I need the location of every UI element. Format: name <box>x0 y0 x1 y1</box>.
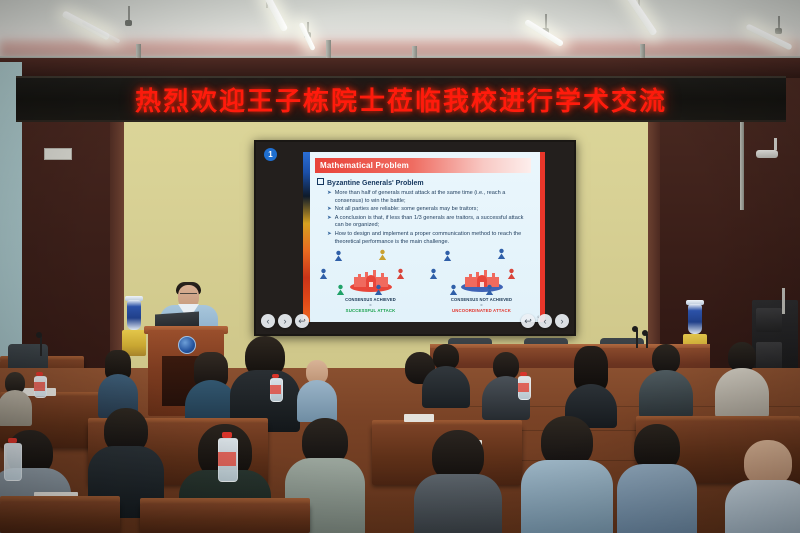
castle-icon <box>459 266 505 292</box>
audience-person <box>736 440 800 533</box>
bullet-text: A conclusion is that, if less than 1/3 g… <box>335 215 533 230</box>
lecture-hall-scene: 热烈欢迎王子栋院士莅临我校进行学术交流 1 Mathematical Probl… <box>0 0 800 533</box>
audience-person <box>96 408 156 508</box>
audience-person <box>628 424 686 533</box>
paper <box>404 414 434 422</box>
av-speaker <box>756 308 782 332</box>
led-banner-text: 热烈欢迎王子栋院士莅临我校进行学术交流 <box>135 81 667 118</box>
audience-person <box>0 372 30 422</box>
general-figure-icon <box>335 284 346 295</box>
microphone-stand <box>636 330 638 348</box>
bottle-label <box>270 385 281 394</box>
arrow-bullet-icon: ➤ <box>327 190 332 205</box>
projector-nav-left[interactable]: ‹ › ↩ <box>261 314 309 328</box>
water-bottle <box>4 443 22 481</box>
figure-caption: CONSENSUS ACHIEVED = SUCCESSFUL ATTACK <box>315 297 426 314</box>
presentation-slide: Mathematical Problem Byzantine Generals'… <box>303 152 545 322</box>
audience-person <box>424 430 492 533</box>
slide-figures: CONSENSUS ACHIEVED = SUCCESSFUL ATTACK <box>315 248 537 314</box>
ceiling <box>0 0 800 62</box>
bottle-label <box>218 452 236 466</box>
audience-person <box>236 336 294 428</box>
audience-person <box>100 350 136 410</box>
door-sign <box>44 148 72 160</box>
lamp-cap <box>125 20 132 26</box>
bottle-label <box>34 382 45 391</box>
slide-left-image-strip <box>303 152 310 322</box>
list-item: ➤A conclusion is that, if less than 1/3 … <box>327 215 533 230</box>
page-badge: 1 <box>264 148 277 161</box>
wall-conduit <box>740 120 744 210</box>
microphone-icon <box>632 326 638 332</box>
microphone-icon <box>36 332 42 338</box>
audience-person <box>188 352 234 422</box>
microphone-icon <box>642 330 648 336</box>
bottle-label <box>518 383 529 392</box>
figure-consensus-achieved: CONSENSUS ACHIEVED = SUCCESSFUL ATTACK <box>315 248 426 314</box>
bullet-text: How to design and implement a proper com… <box>335 231 533 246</box>
led-welcome-banner: 热烈欢迎王子栋院士莅临我校进行学术交流 <box>16 76 786 122</box>
general-figure-icon <box>395 268 406 279</box>
return-icon[interactable]: ↩ <box>521 314 535 328</box>
audience-person <box>300 360 334 416</box>
slide-title-text: Mathematical Problem <box>320 161 409 170</box>
chevron-left-icon[interactable]: ‹ <box>538 314 552 328</box>
general-figure-icon <box>428 268 439 279</box>
pipe-joint <box>326 40 331 60</box>
return-icon[interactable]: ↩ <box>295 314 309 328</box>
porcelain-vase <box>127 300 141 330</box>
audience-person <box>644 344 688 414</box>
general-figure-icon <box>448 284 459 295</box>
chevron-left-icon[interactable]: ‹ <box>261 314 275 328</box>
arrow-bullet-icon: ➤ <box>327 206 332 214</box>
microphone-stand <box>40 336 42 356</box>
mic-stand <box>782 288 785 314</box>
projection-screen[interactable]: 1 Mathematical Problem Byzantine General… <box>254 140 576 336</box>
desk <box>0 502 120 533</box>
arrow-bullet-icon: ➤ <box>327 231 332 246</box>
caption-line-2: UNCOORDINATED ATTACK <box>426 308 537 314</box>
figure-consensus-not-achieved: CONSENSUS NOT ACHIEVED = UNCOORDINATED A… <box>426 248 537 314</box>
audience-person <box>720 342 764 412</box>
audience-person <box>568 346 614 418</box>
porcelain-vase <box>688 304 702 334</box>
general-figure-icon <box>442 250 453 261</box>
general-figure-icon <box>377 249 388 260</box>
lamp-cap <box>775 28 782 34</box>
projector-nav-right[interactable]: ↩ ‹ › <box>521 314 569 328</box>
desk <box>140 504 310 533</box>
slide-bullet-list: ➤More than half of generals must attack … <box>327 190 533 247</box>
list-item: ➤How to design and implement a proper co… <box>327 231 533 246</box>
general-figure-icon <box>496 248 507 259</box>
figure-caption: CONSENSUS NOT ACHIEVED = UNCOORDINATED A… <box>426 297 537 314</box>
list-item: ➤More than half of generals must attack … <box>327 190 533 205</box>
general-figure-icon <box>333 250 344 261</box>
list-item: ➤Not all parties are reliable: some gene… <box>327 206 533 214</box>
caption-line-2: SUCCESSFUL ATTACK <box>315 308 426 314</box>
arrow-bullet-icon: ➤ <box>327 215 332 230</box>
chevron-right-icon[interactable]: › <box>278 314 292 328</box>
slide-title-bar: Mathematical Problem <box>315 158 531 173</box>
bullet-text: Not all parties are reliable: some gener… <box>335 206 478 214</box>
slide-right-accent <box>540 152 545 322</box>
general-figure-icon <box>318 268 329 279</box>
checkbox-bullet-icon <box>317 178 324 185</box>
general-figure-icon <box>373 284 384 295</box>
general-figure-icon <box>484 284 495 295</box>
audience-person <box>534 416 600 533</box>
slide-subtitle-text: Byzantine Generals' Problem <box>327 180 424 187</box>
castle-icon <box>348 266 394 292</box>
slide-subtitle: Byzantine Generals' Problem <box>317 178 424 187</box>
audience-person <box>426 344 466 402</box>
glasses-icon <box>180 293 197 298</box>
bullet-text: More than half of generals must attack a… <box>335 190 533 205</box>
general-figure-icon <box>506 268 517 279</box>
chevron-right-icon[interactable]: › <box>555 314 569 328</box>
